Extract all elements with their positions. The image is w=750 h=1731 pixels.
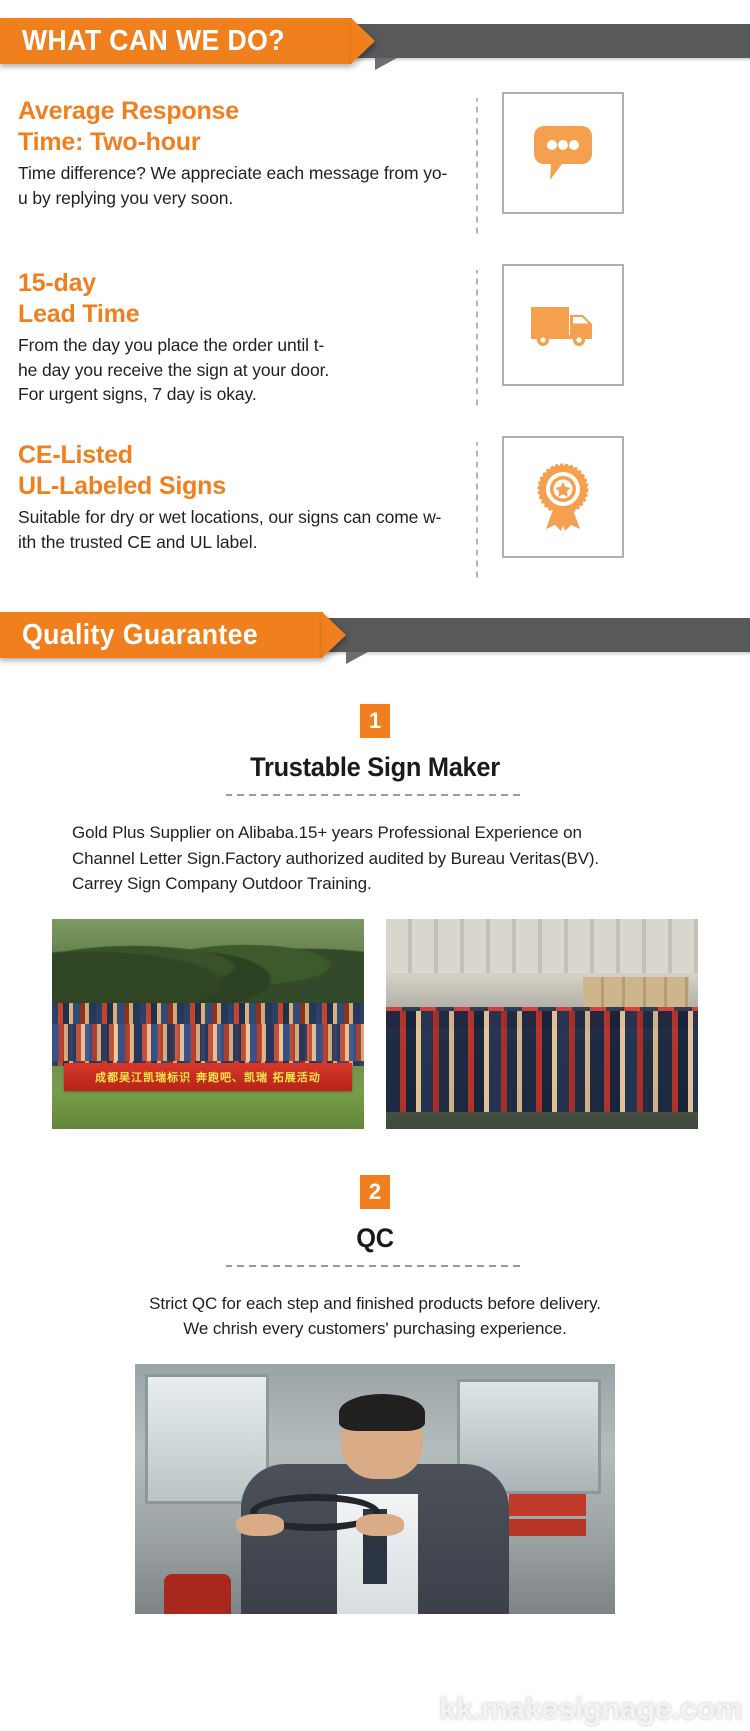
feature-description: From the day you place the order until t… (18, 333, 470, 407)
chat-bubble-icon (532, 124, 594, 182)
delivery-truck-icon (529, 301, 597, 349)
feature-row-response-time: Average Response Time: Two-hour Time dif… (0, 92, 750, 242)
quality-block-1-photos: 成都吴江凯瑞标识 奔跑吧、凯瑞 拓展活动 (0, 919, 750, 1129)
quality-guarantee-section: Quality Guarantee 1 Trustable Sign Maker… (0, 612, 750, 1614)
quality-block-2-photos (0, 1364, 750, 1614)
quality-block-1: 1 Trustable Sign Maker (0, 704, 750, 796)
feature-list: Average Response Time: Two-hour Time dif… (0, 64, 750, 586)
photo-banner-text: 成都吴江凯瑞标识 奔跑吧、凯瑞 拓展活动 (95, 1069, 321, 1085)
step-title: QC (23, 1223, 728, 1254)
quality-block-2: 2 QC (0, 1175, 750, 1267)
feature-text: 15-day Lead Time From the day you place … (18, 264, 470, 407)
quality-block-1-description: Gold Plus Supplier on Alibaba.15+ years … (0, 820, 750, 897)
feature-title: 15-day Lead Time (18, 268, 470, 330)
feature-desc-line-1: Time difference? We appreciate each mess… (18, 161, 470, 186)
step-title: Trustable Sign Maker (23, 752, 728, 783)
feature-desc-line-2: he day you receive the sign at your door… (18, 358, 470, 383)
dashed-rule (226, 1265, 524, 1267)
feature-row-lead-time: 15-day Lead Time From the day you place … (0, 264, 750, 414)
desc-line-2: Channel Letter Sign.Factory authorized a… (72, 846, 678, 872)
banner-arrow-notch (322, 612, 346, 658)
desc-line-3: Carrey Sign Company Outdoor Training. (72, 871, 678, 897)
feature-desc-line-2: ith the trusted CE and UL label. (18, 530, 470, 555)
feature-title-line-2: Time: Two-hour (18, 127, 470, 158)
banner-arrow-notch (351, 18, 375, 64)
feature-title-line-1: 15-day (18, 268, 470, 299)
feature-text: CE-Listed UL-Labeled Signs Suitable for … (18, 436, 470, 554)
feature-icon-box (502, 264, 624, 386)
banner-quality-guarantee: Quality Guarantee (0, 612, 750, 658)
photo-team-group-outdoor: 成都吴江凯瑞标识 奔跑吧、凯瑞 拓展活动 (52, 919, 364, 1129)
feature-title: Average Response Time: Two-hour (18, 96, 470, 158)
feature-desc-line-1: Suitable for dry or wet locations, our s… (18, 505, 470, 530)
feature-title-line-2: UL-Labeled Signs (18, 471, 470, 502)
feature-desc-line-1: From the day you place the order until t… (18, 333, 470, 358)
step-number-badge: 2 (360, 1175, 390, 1209)
desc-line-1: Strict QC for each step and finished pro… (40, 1291, 710, 1317)
feature-title-line-2: Lead Time (18, 299, 470, 330)
feature-title-line-1: CE-Listed (18, 440, 470, 471)
step-number-badge: 1 (360, 704, 390, 738)
feature-desc-line-2: u by replying you very soon. (18, 186, 470, 211)
feature-description: Suitable for dry or wet locations, our s… (18, 505, 470, 554)
award-ribbon-icon (532, 463, 594, 531)
feature-icon-box (502, 436, 624, 558)
dashed-rule (226, 794, 524, 796)
photo-factory-staff (386, 919, 698, 1129)
banner-orange-tab: WHAT CAN WE DO? (0, 18, 352, 64)
feature-text: Average Response Time: Two-hour Time dif… (18, 92, 470, 210)
banner-orange-tab: Quality Guarantee (0, 612, 323, 658)
quality-block-2-description: Strict QC for each step and finished pro… (0, 1291, 750, 1342)
feature-title-line-1: Average Response (18, 96, 470, 127)
feature-title: CE-Listed UL-Labeled Signs (18, 440, 470, 502)
photo-qc-inspection (135, 1364, 615, 1614)
banner-fold (346, 652, 368, 664)
feature-row-ce-ul-listed: CE-Listed UL-Labeled Signs Suitable for … (0, 436, 750, 586)
banner-what-can-we-do: WHAT CAN WE DO? (0, 18, 750, 64)
banner-fold (375, 58, 397, 70)
feature-desc-line-3: For urgent signs, 7 day is okay. (18, 382, 470, 407)
dashed-vertical-divider (476, 270, 478, 408)
product-detail-page: WHAT CAN WE DO? Average Response Time: T… (0, 0, 750, 1731)
banner-title: Quality Guarantee (22, 621, 258, 650)
feature-icon-box (502, 92, 624, 214)
feature-description: Time difference? We appreciate each mess… (18, 161, 470, 210)
dashed-vertical-divider (476, 98, 478, 236)
photo-red-banner: 成都吴江凯瑞标识 奔跑吧、凯瑞 拓展活动 (64, 1063, 351, 1090)
banner-title: WHAT CAN WE DO? (22, 27, 285, 56)
desc-line-1: Gold Plus Supplier on Alibaba.15+ years … (72, 820, 678, 846)
desc-line-2: We chrish every customers' purchasing ex… (40, 1316, 710, 1342)
dashed-vertical-divider (476, 442, 478, 580)
site-watermark: kk.makesignage.com (439, 1691, 742, 1727)
